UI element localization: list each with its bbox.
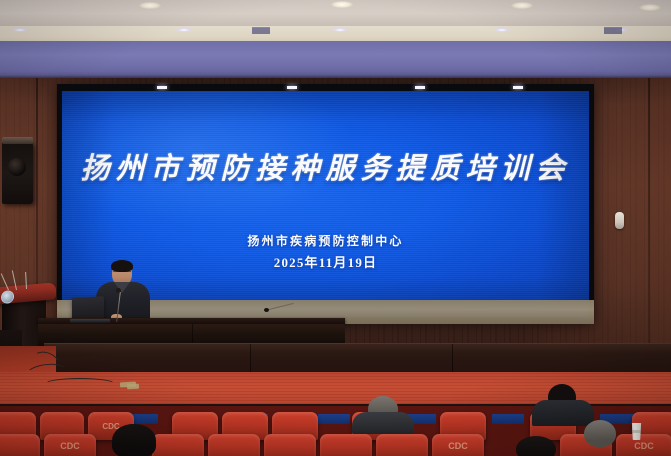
floor-cable xyxy=(44,378,116,390)
aisle-floor-light xyxy=(492,414,524,424)
auditorium-seat[interactable]: CDC xyxy=(44,434,96,456)
auditorium-seat[interactable] xyxy=(152,434,204,456)
ceiling-vent-icon xyxy=(604,27,622,34)
soffit-spotlight-icon xyxy=(494,28,510,32)
ceiling-downlight-icon xyxy=(511,2,533,9)
attendee-head xyxy=(516,436,556,456)
aisle-floor-light xyxy=(318,414,350,424)
cable-tape-strip xyxy=(127,384,139,390)
attendee-head xyxy=(112,424,156,456)
paper-cup-band xyxy=(631,430,642,433)
conference-hall-screenshot: 扬州市预防接种服务提质培训会 扬州市疾病预防控制中心 2025年11月19日 xyxy=(0,0,671,456)
auditorium-seat[interactable] xyxy=(264,434,316,456)
auditorium-seat[interactable] xyxy=(320,434,372,456)
laptop-keyboard-base[interactable] xyxy=(70,319,110,323)
desk-microphone-head-icon xyxy=(264,308,269,312)
lectern-emblem-icon xyxy=(1,290,14,304)
auditorium-seat[interactable] xyxy=(376,434,428,456)
auditorium-seat[interactable]: CDC xyxy=(432,434,484,456)
speaker-cone-icon xyxy=(8,158,26,176)
screen-toplight-icon xyxy=(287,86,297,89)
ceiling-downlight-icon xyxy=(139,2,161,9)
seat-logo: CDC xyxy=(448,442,468,451)
wall-panel-seam xyxy=(648,78,650,346)
attendee-head xyxy=(584,420,616,447)
screen-toplight-icon xyxy=(513,86,523,89)
soffit-spotlight-icon xyxy=(332,28,348,32)
auditorium-seat[interactable] xyxy=(0,434,40,456)
attendee-shoulders xyxy=(352,412,414,434)
seat-logo: CDC xyxy=(60,442,80,451)
soffit-spotlight-icon xyxy=(176,28,192,32)
soffit-spotlight-icon xyxy=(12,28,28,32)
auditorium-seat[interactable] xyxy=(208,434,260,456)
wall-light-fixture-icon xyxy=(615,212,624,229)
screen-toplight-icon xyxy=(415,86,425,89)
blue-lit-soffit xyxy=(0,41,671,81)
attendee-shoulders xyxy=(532,400,594,426)
presenter-person xyxy=(96,262,150,324)
presenter-glasses-icon xyxy=(113,271,131,276)
wall-speaker-icon xyxy=(2,142,33,204)
ceiling-downlight-icon xyxy=(331,1,353,8)
ceiling-downlight-icon xyxy=(639,4,661,11)
seat-logo: CDC xyxy=(634,442,654,451)
ceiling-vent-icon xyxy=(252,27,270,34)
auditorium-seat[interactable]: CDC xyxy=(616,434,671,456)
screen-toplight-icon xyxy=(157,86,167,89)
